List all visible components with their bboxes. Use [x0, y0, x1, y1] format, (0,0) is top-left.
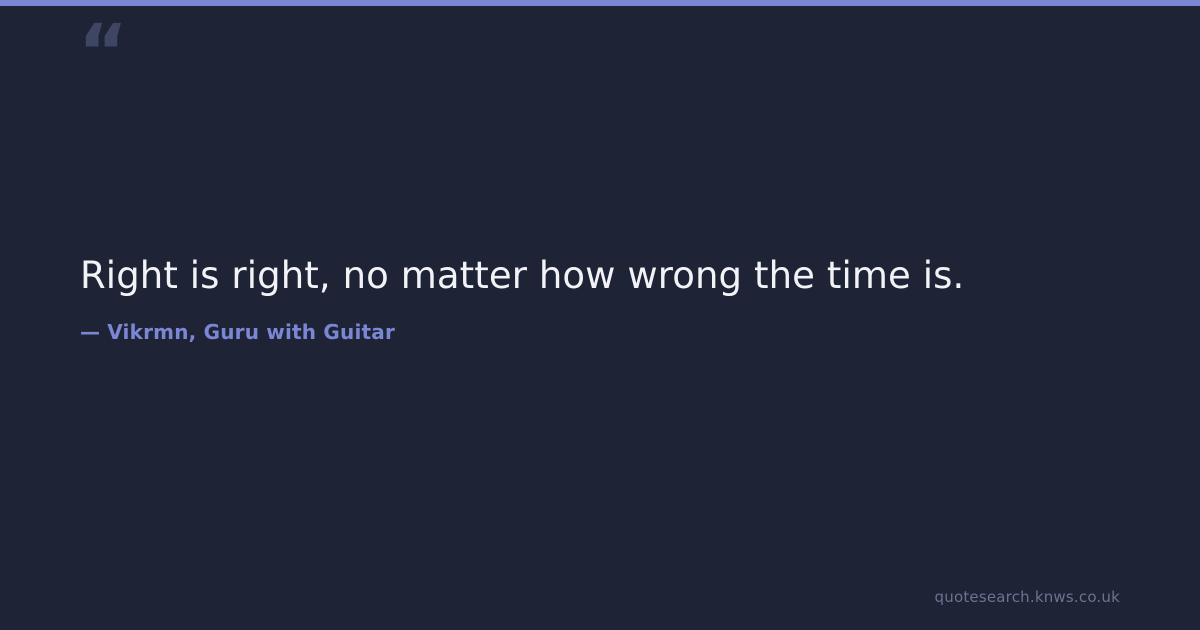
quote-content-block: Right is right, no matter how wrong the … [80, 252, 1120, 344]
quote-card: “ Right is right, no matter how wrong th… [0, 0, 1200, 630]
quote-attribution: —Vikrmn, Guru with Guitar [80, 299, 1120, 344]
opening-quote-icon: “ [78, 14, 126, 90]
quote-text: Right is right, no matter how wrong the … [80, 252, 1120, 299]
attribution-author: Vikrmn, Guru with Guitar [107, 320, 395, 344]
attribution-dash: — [80, 320, 100, 344]
top-accent-bar [0, 0, 1200, 6]
source-url-label: quotesearch.knws.co.uk [935, 588, 1120, 606]
